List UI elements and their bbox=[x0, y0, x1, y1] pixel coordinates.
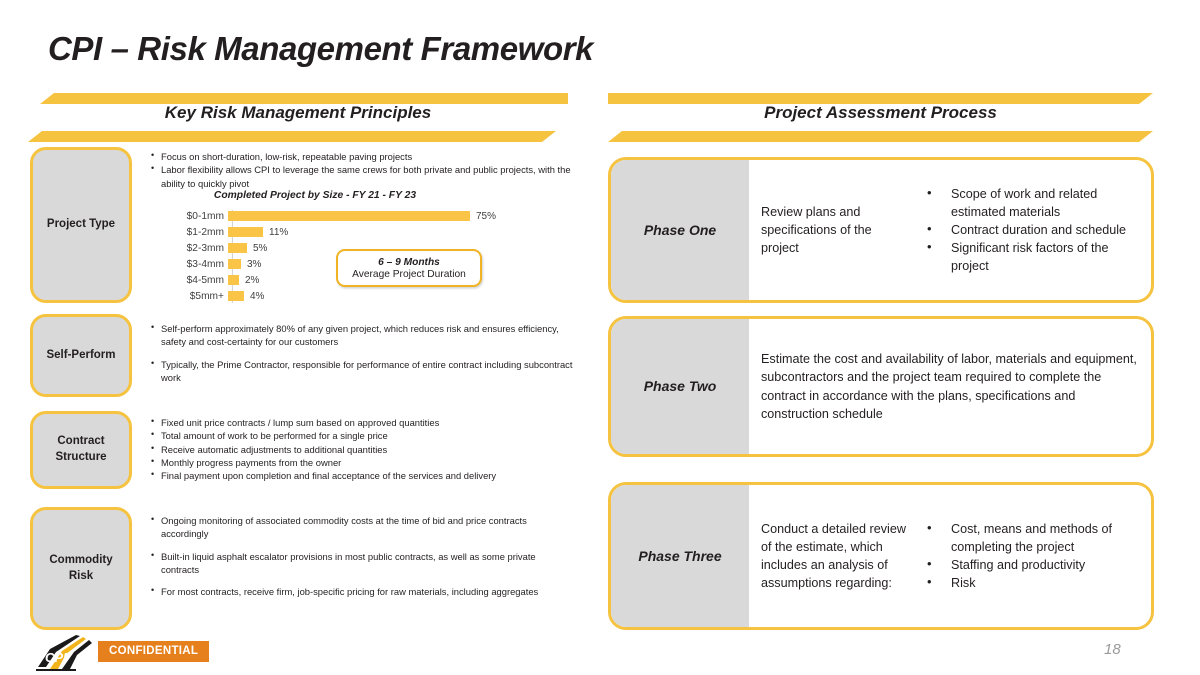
list-item: Final payment upon completion and final … bbox=[150, 469, 575, 482]
chart-value-label: 5% bbox=[253, 243, 267, 254]
list-item: Built-in liquid asphalt escalator provis… bbox=[150, 550, 550, 577]
chart-bar bbox=[228, 291, 244, 301]
list-item: Fixed unit price contracts / lump sum ba… bbox=[150, 416, 575, 429]
chart-value-label: 75% bbox=[476, 211, 496, 222]
chart-value-label: 3% bbox=[247, 259, 261, 270]
chart-bar bbox=[228, 259, 241, 269]
bullets-commodity-risk: Ongoing monitoring of associated commodi… bbox=[150, 514, 550, 608]
list-item: Typically, the Prime Contractor, respons… bbox=[150, 358, 575, 385]
chart-bar bbox=[228, 211, 470, 221]
chart-bar bbox=[228, 227, 263, 237]
chart-bar-row: $4-5mm 2% bbox=[150, 272, 259, 288]
average-duration-callout: 6 – 9 Months Average Project Duration bbox=[336, 249, 482, 287]
completed-project-by-size-chart: Completed Project by Size - FY 21 - FY 2… bbox=[150, 190, 580, 305]
bullet-list: Self-perform approximately 80% of any gi… bbox=[150, 322, 575, 384]
chart-bar-row: $0-1mm 75% bbox=[150, 208, 496, 224]
list-item: For most contracts, receive firm, job-sp… bbox=[150, 585, 550, 598]
chart-bar-wrap: 11% bbox=[228, 227, 288, 238]
list-item: Cost, means and methods of completing th… bbox=[925, 520, 1140, 556]
chip-label: Commodity Risk bbox=[37, 553, 125, 584]
callout-headline: 6 – 9 Months bbox=[378, 257, 440, 268]
bullets-contract-structure: Fixed unit price contracts / lump sum ba… bbox=[150, 416, 575, 483]
chart-title: Completed Project by Size - FY 21 - FY 2… bbox=[150, 190, 480, 201]
category-chip-self-perform: Self-Perform bbox=[30, 314, 132, 397]
chart-category-label: $0-1mm bbox=[150, 211, 228, 222]
list-item: Significant risk factors of the project bbox=[925, 239, 1135, 275]
chart-bar-row: $3-4mm 3% bbox=[150, 256, 261, 272]
chart-value-label: 11% bbox=[269, 227, 288, 238]
bullet-list: Focus on short-duration, low-risk, repea… bbox=[150, 150, 575, 190]
list-item: Staffing and productivity bbox=[925, 556, 1140, 574]
list-item: Scope of work and related estimated mate… bbox=[925, 185, 1135, 221]
category-chip-commodity-risk: Commodity Risk bbox=[30, 507, 132, 630]
chart-bar-wrap: 5% bbox=[228, 243, 267, 254]
svg-text:CPI: CPI bbox=[45, 650, 67, 665]
chart-category-label: $3-4mm bbox=[150, 259, 228, 270]
phase-body: Conduct a detailed review of the estimat… bbox=[749, 485, 1151, 627]
chart-bar-row: $1-2mm 11% bbox=[150, 224, 288, 240]
chip-label: Contract Structure bbox=[37, 434, 125, 465]
slide-canvas: CPI – Risk Management Framework Key Risk… bbox=[0, 0, 1200, 675]
phase-label: Phase Three bbox=[611, 485, 749, 627]
cpi-logo-icon: CPI bbox=[36, 633, 94, 671]
chart-category-label: $1-2mm bbox=[150, 227, 228, 238]
list-item: Contract duration and schedule bbox=[925, 221, 1135, 239]
page-number: 18 bbox=[1104, 641, 1121, 658]
chart-bar-wrap: 75% bbox=[228, 211, 496, 222]
bullet-list: Fixed unit price contracts / lump sum ba… bbox=[150, 416, 575, 483]
phase-body: Review plans and specifications of the p… bbox=[749, 160, 1151, 300]
phase-bullet-list: Scope of work and related estimated mate… bbox=[925, 185, 1135, 276]
list-item: Focus on short-duration, low-risk, repea… bbox=[150, 150, 575, 163]
chart-bar bbox=[228, 243, 247, 253]
chart-bar-wrap: 4% bbox=[228, 291, 264, 302]
left-section-header-label: Key Risk Management Principles bbox=[28, 103, 568, 123]
phase-description: Review plans and specifications of the p… bbox=[761, 203, 911, 257]
chart-value-label: 2% bbox=[245, 275, 259, 286]
phase-description: Conduct a detailed review of the estimat… bbox=[761, 520, 911, 593]
chart-value-label: 4% bbox=[250, 291, 264, 302]
chart-bar-wrap: 3% bbox=[228, 259, 261, 270]
category-chip-project-type: Project Type bbox=[30, 147, 132, 303]
callout-subline: Average Project Duration bbox=[352, 269, 466, 280]
phase-body: Estimate the cost and availability of la… bbox=[749, 319, 1151, 454]
list-item: Self-perform approximately 80% of any gi… bbox=[150, 322, 575, 349]
confidential-badge: CONFIDENTIAL bbox=[98, 641, 209, 662]
list-item: Receive automatic adjustments to additio… bbox=[150, 443, 575, 456]
chart-bar bbox=[228, 275, 239, 285]
phase-three-box: Phase Three Conduct a detailed review of… bbox=[608, 482, 1154, 630]
chart-category-label: $2-3mm bbox=[150, 243, 228, 254]
page-title: CPI – Risk Management Framework bbox=[48, 30, 593, 68]
list-item: Total amount of work to be performed for… bbox=[150, 429, 575, 442]
header-bar-bottom bbox=[608, 131, 1153, 142]
list-item: Labor flexibility allows CPI to leverage… bbox=[150, 163, 575, 190]
left-section-header: Key Risk Management Principles bbox=[28, 93, 568, 143]
chart-bar-row: $2-3mm 5% bbox=[150, 240, 267, 256]
phase-description: Estimate the cost and availability of la… bbox=[761, 350, 1141, 423]
bullets-project-type: Focus on short-duration, low-risk, repea… bbox=[150, 150, 575, 190]
chip-label: Self-Perform bbox=[46, 348, 115, 364]
phase-label: Phase Two bbox=[611, 319, 749, 454]
bullet-list: Ongoing monitoring of associated commodi… bbox=[150, 514, 550, 599]
phase-one-box: Phase One Review plans and specification… bbox=[608, 157, 1154, 303]
chart-bar-row: $5mm+ 4% bbox=[150, 288, 264, 304]
list-item: Ongoing monitoring of associated commodi… bbox=[150, 514, 550, 541]
header-bar-bottom bbox=[28, 131, 556, 142]
phase-label: Phase One bbox=[611, 160, 749, 300]
chart-category-label: $4-5mm bbox=[150, 275, 228, 286]
bullets-self-perform: Self-perform approximately 80% of any gi… bbox=[150, 322, 575, 393]
right-section-header: Project Assessment Process bbox=[608, 93, 1153, 143]
chip-label: Project Type bbox=[47, 217, 115, 233]
category-chip-contract-structure: Contract Structure bbox=[30, 411, 132, 489]
chart-bar-wrap: 2% bbox=[228, 275, 259, 286]
chart-category-label: $5mm+ bbox=[150, 291, 228, 302]
list-item: Risk bbox=[925, 574, 1140, 592]
phase-two-box: Phase Two Estimate the cost and availabi… bbox=[608, 316, 1154, 457]
right-section-header-label: Project Assessment Process bbox=[608, 103, 1153, 123]
phase-bullet-list: Cost, means and methods of completing th… bbox=[925, 520, 1140, 593]
list-item: Monthly progress payments from the owner bbox=[150, 456, 575, 469]
